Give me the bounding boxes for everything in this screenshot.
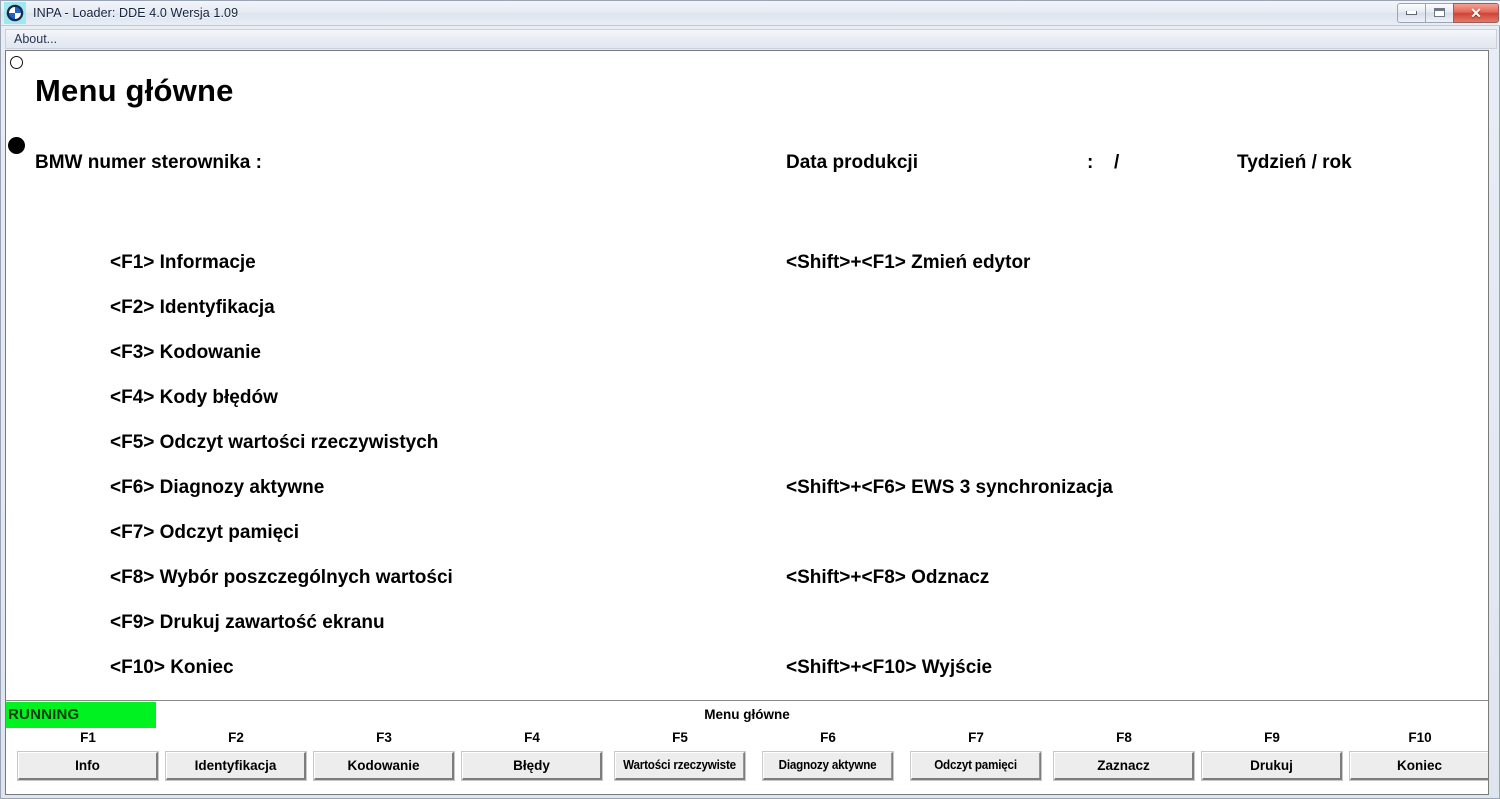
menu-entry-f1[interactable]: <F1> Informacje xyxy=(110,252,256,274)
fkey-label-f6: F6 xyxy=(758,729,898,747)
menu-entry-shift-f1[interactable]: <Shift>+<F1> Zmień edytor xyxy=(786,252,1030,274)
fkey-button-zaznacz[interactable]: Zaznacz xyxy=(1054,752,1194,780)
status-center-label: Menu główne xyxy=(6,707,1488,722)
status-bar: RUNNING Menu główne F1 Info F2 Identyfik… xyxy=(6,700,1488,794)
menu-entry-f2[interactable]: <F2> Identyfikacja xyxy=(110,297,275,319)
maximize-icon xyxy=(1434,8,1445,17)
fkey-cell-f2: F2 Identyfikacja xyxy=(166,729,306,780)
fkey-label-f2: F2 xyxy=(166,729,306,747)
fkey-button-koniec[interactable]: Koniec xyxy=(1350,752,1489,780)
fkey-label-f9: F9 xyxy=(1202,729,1342,747)
menu-entry-shift-f6[interactable]: <Shift>+<F6> EWS 3 synchronizacja xyxy=(786,477,1113,499)
window-controls: ✕ xyxy=(1398,2,1499,23)
fkey-button-kodowanie[interactable]: Kodowanie xyxy=(314,752,454,780)
page-title: Menu główne xyxy=(35,73,234,109)
fkey-cell-f1: F1 Info xyxy=(18,729,158,780)
fkey-label-f4: F4 xyxy=(462,729,602,747)
close-button[interactable]: ✕ xyxy=(1453,3,1499,23)
fkey-cell-f6: F6 Diagnozy aktywne xyxy=(758,729,898,780)
production-date-value: / xyxy=(1114,152,1119,174)
menu-entry-f8[interactable]: <F8> Wybór poszczególnych wartości xyxy=(110,567,453,589)
application-window: INPA - Loader: DDE 4.0 Wersja 1.09 ✕ Abo… xyxy=(0,0,1500,799)
fkey-cell-f5: F5 Wartości rzeczywiste xyxy=(610,729,750,780)
production-date-label: Data produkcji xyxy=(786,152,918,174)
menu-bar: About... xyxy=(5,29,1497,49)
fkey-cell-f8: F8 Zaznacz xyxy=(1054,729,1194,780)
menu-entry-f6[interactable]: <F6> Diagnozy aktywne xyxy=(110,477,324,499)
fkey-button-info[interactable]: Info xyxy=(18,752,158,780)
menu-entry-f10[interactable]: <F10> Koniec xyxy=(110,657,234,679)
window-title: INPA - Loader: DDE 4.0 Wersja 1.09 xyxy=(33,6,238,20)
menu-entry-f3[interactable]: <F3> Kodowanie xyxy=(110,342,261,364)
fkey-cell-f3: F3 Kodowanie xyxy=(314,729,454,780)
fkey-label-f7: F7 xyxy=(906,729,1046,747)
fkey-cell-f7: F7 Odczyt pamięci xyxy=(906,729,1046,780)
fkey-button-drukuj[interactable]: Drukuj xyxy=(1202,752,1342,780)
menu-item-about[interactable]: About... xyxy=(6,30,65,48)
fkey-label-f10: F10 xyxy=(1350,729,1489,747)
fkey-button-odczyt-pamieci[interactable]: Odczyt pamięci xyxy=(911,752,1041,780)
menu-entry-f9[interactable]: <F9> Drukuj zawartość ekranu xyxy=(110,612,385,634)
menu-entry-f7[interactable]: <F7> Odczyt pamięci xyxy=(110,522,299,544)
menu-entry-shift-f10[interactable]: <Shift>+<F10> Wyjście xyxy=(786,657,992,679)
fkey-button-identyfikacja[interactable]: Identyfikacja xyxy=(166,752,306,780)
minimize-button[interactable] xyxy=(1397,3,1426,23)
title-bar: INPA - Loader: DDE 4.0 Wersja 1.09 ✕ xyxy=(1,1,1500,26)
fkey-label-f8: F8 xyxy=(1054,729,1194,747)
status-marker-filled-icon xyxy=(8,137,25,154)
ecu-number-label: BMW numer sterownika : xyxy=(35,152,262,174)
fkey-button-diagnozy-aktywne[interactable]: Diagnozy aktywne xyxy=(763,752,893,780)
fkey-button-wartosci-rzeczywiste[interactable]: Wartości rzeczywiste xyxy=(615,752,745,780)
fkey-label-f5: F5 xyxy=(610,729,750,747)
fkey-cell-f4: F4 Błędy xyxy=(462,729,602,780)
fkey-cell-f10: F10 Koniec xyxy=(1350,729,1489,780)
fkey-button-bledy[interactable]: Błędy xyxy=(462,752,602,780)
menu-entry-shift-f8[interactable]: <Shift>+<F8> Odznacz xyxy=(786,567,989,589)
week-year-label: Tydzień / rok xyxy=(1237,152,1352,174)
close-icon: ✕ xyxy=(1470,6,1482,20)
minimize-icon xyxy=(1406,11,1417,15)
maximize-button[interactable] xyxy=(1425,3,1454,23)
menu-entry-f5[interactable]: <F5> Odczyt wartości rzeczywistych xyxy=(110,432,438,454)
fkey-label-f3: F3 xyxy=(314,729,454,747)
function-key-row: F1 Info F2 Identyfikacja F3 Kodowanie F4… xyxy=(6,729,1488,795)
bmw-roundel-icon xyxy=(4,2,26,24)
content-area: Menu główne BMW numer sterownika : Data … xyxy=(5,50,1489,795)
production-date-colon: : xyxy=(1087,152,1093,174)
fkey-cell-f9: F9 Drukuj xyxy=(1202,729,1342,780)
status-marker-hollow-icon xyxy=(10,56,23,69)
menu-entry-f4[interactable]: <F4> Kody błędów xyxy=(110,387,278,409)
fkey-label-f1: F1 xyxy=(18,729,158,747)
